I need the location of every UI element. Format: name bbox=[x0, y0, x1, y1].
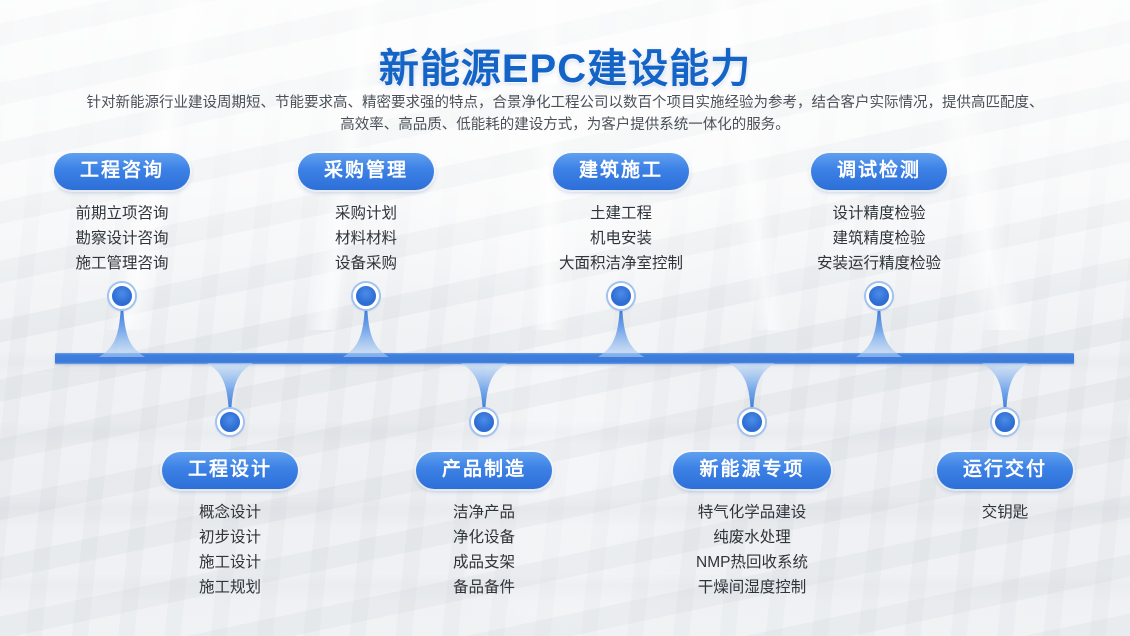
stage-title-pill-building-construction[interactable]: 建筑施工 bbox=[553, 153, 689, 190]
stage-title-pill-operation-delivery[interactable]: 运行交付 bbox=[937, 452, 1073, 489]
stage-title-pill-product-manufacturing[interactable]: 产品制造 bbox=[416, 452, 552, 489]
stage-card-operation-delivery: 运行交付交钥匙 bbox=[855, 452, 1130, 525]
timeline-connector bbox=[99, 308, 145, 357]
stage-card-building-construction: 建筑施工土建工程机电安装大面积洁净室控制 bbox=[471, 153, 771, 276]
stage-card-product-manufacturing: 产品制造洁净产品净化设备成品支架备品备件 bbox=[334, 452, 634, 600]
stage-card-commissioning-testing: 调试检测设计精度检验建筑精度检验安装运行精度检验 bbox=[729, 153, 1029, 276]
timeline-connector bbox=[343, 308, 389, 357]
stage-item: 成品支架 bbox=[334, 550, 634, 575]
timeline-node-engineering-design[interactable] bbox=[217, 409, 243, 435]
stage-item: 建筑精度检验 bbox=[729, 226, 1029, 251]
page-title: 新能源EPC建设能力 bbox=[0, 36, 1130, 94]
stage-item: 备品备件 bbox=[334, 575, 634, 600]
stage-item: 设计精度检验 bbox=[729, 201, 1029, 226]
stage-item: 纯废水处理 bbox=[602, 525, 902, 550]
stage-item-list-product-manufacturing: 洁净产品净化设备成品支架备品备件 bbox=[334, 500, 634, 600]
timeline-node-procurement-management[interactable] bbox=[353, 283, 379, 309]
timeline-connector bbox=[207, 363, 253, 411]
stage-item: 大面积洁净室控制 bbox=[471, 251, 771, 276]
timeline-node-operation-delivery[interactable] bbox=[992, 409, 1018, 435]
timeline-connector bbox=[729, 363, 775, 411]
page-subtitle: 针对新能源行业建设周期短、节能要求高、精密要求强的特点，合景净化工程公司以数百个… bbox=[82, 92, 1048, 136]
timeline-connector bbox=[461, 363, 507, 411]
timeline-node-building-construction[interactable] bbox=[608, 283, 634, 309]
timeline-node-product-manufacturing[interactable] bbox=[471, 409, 497, 435]
timeline-connector bbox=[982, 363, 1028, 411]
stage-item: NMP热回收系统 bbox=[602, 550, 902, 575]
stage-title-pill-procurement-management[interactable]: 采购管理 bbox=[298, 153, 434, 190]
timeline-node-commissioning-testing[interactable] bbox=[866, 283, 892, 309]
timeline-connector bbox=[856, 308, 902, 357]
stage-item-list-building-construction: 土建工程机电安装大面积洁净室控制 bbox=[471, 201, 771, 276]
stage-item-list-operation-delivery: 交钥匙 bbox=[855, 500, 1130, 525]
stage-item: 土建工程 bbox=[471, 201, 771, 226]
stage-title-pill-commissioning-testing[interactable]: 调试检测 bbox=[811, 153, 947, 190]
timeline-connector bbox=[598, 308, 644, 357]
stage-item: 洁净产品 bbox=[334, 500, 634, 525]
stage-title-pill-engineering-design[interactable]: 工程设计 bbox=[162, 452, 298, 489]
stage-item: 干燥间湿度控制 bbox=[602, 575, 902, 600]
timeline-node-engineering-consulting[interactable] bbox=[109, 283, 135, 309]
stage-title-pill-engineering-consulting[interactable]: 工程咨询 bbox=[54, 153, 190, 190]
stage-item: 交钥匙 bbox=[855, 500, 1130, 525]
stage-item: 净化设备 bbox=[334, 525, 634, 550]
stage-title-pill-new-energy-special[interactable]: 新能源专项 bbox=[673, 452, 830, 489]
stage-item: 机电安装 bbox=[471, 226, 771, 251]
timeline-node-new-energy-special[interactable] bbox=[739, 409, 765, 435]
infographic-canvas: 新能源EPC建设能力 针对新能源行业建设周期短、节能要求高、精密要求强的特点，合… bbox=[0, 0, 1130, 636]
stage-item-list-commissioning-testing: 设计精度检验建筑精度检验安装运行精度检验 bbox=[729, 201, 1029, 276]
stage-item: 安装运行精度检验 bbox=[729, 251, 1029, 276]
